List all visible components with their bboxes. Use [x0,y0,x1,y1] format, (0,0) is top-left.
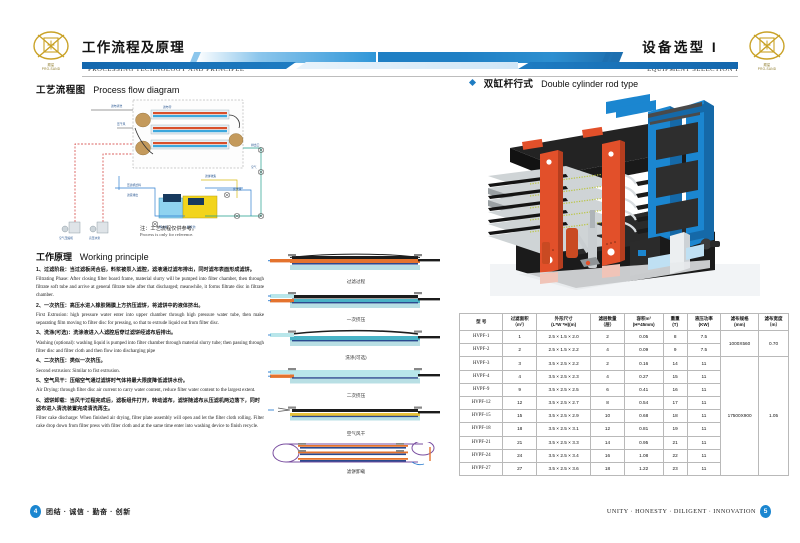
working-principle-heading-cn: 工作原理 [36,252,72,262]
cell-weight: 18 [663,410,687,423]
step-label: 空气风干 [268,431,444,437]
logo-mark-icon [746,29,788,62]
step-illustration: 过滤过程 [268,252,444,290]
page-number-right: 5 [760,505,771,518]
cell-weight: 15 [663,370,687,383]
product-heading-cn: 双缸杆行式 [484,79,534,90]
cell-area: 27 [503,462,537,475]
cell-layers: 14 [591,436,625,449]
process-flow-note: 注：工艺流程仅供参考。 Process is only for referenc… [140,225,270,237]
step-illustration-column: 过滤过程 一次挤压 [268,252,444,480]
cell-dim: 3.5 × 2.5 × 2.5 [536,383,590,396]
principle-step-en: Second extrusion: Similar to fist extrus… [36,368,264,376]
cell-dim: 3.5 × 2.5 × 3.6 [536,462,590,475]
principle-step-en: First Extrusion: high pressure water ent… [36,312,264,328]
cell-weight: 16 [663,383,687,396]
cell-vol: 0.81 [624,423,663,436]
cell-weight: 21 [663,436,687,449]
cell-area: 9 [503,383,537,396]
svg-text:滤布带: 滤布带 [163,105,172,109]
cell-power: 11 [687,462,721,475]
cell-dim: 3.5 × 2.5 × 3.3 [536,436,590,449]
brochure-page: 顺星PRO-SAND 顺星PRO-SAND 工作流程及原理 PROCESSING… [0,0,800,543]
col-cloth-width-unit: （m） [767,322,780,327]
step-label: 滤饼卸载 [268,469,444,475]
page-header: 顺星PRO-SAND 顺星PRO-SAND 工作流程及原理 PROCESSING… [0,0,800,78]
header-underbar-left [82,62,296,69]
cell-vol: 0.54 [624,396,663,409]
logo-mark-icon [30,29,72,62]
col-layers: 滤层数量 （层） [591,314,625,331]
logo-caption: 顺星PRO-SAND [30,63,72,71]
process-flow-note-cn: 注：工艺流程仅供参考。 [140,225,270,232]
col-cloth-width-cn: 滤布宽度 [765,316,783,321]
cell-layers: 4 [591,344,625,357]
cell-model: HVPF-1 [460,331,503,344]
header-underbar-mid [296,62,518,69]
header-title-left-cn: 工作流程及原理 [82,36,185,56]
working-principle-heading-en: Working principle [80,252,149,262]
cell-dim: 3.5 × 2.5 × 3.4 [536,449,590,462]
cell-area: 3 [503,357,537,370]
cell-layers: 4 [591,370,625,383]
spec-table-header-row: 型 号 过滤面积 （m²） 外形尺寸 (L*W *H)(m) 滤层数量 （层） [460,314,789,331]
cell-power: 11 [687,396,721,409]
col-weight: 重重 (T) [663,314,687,331]
cell-area: 12 [503,396,537,409]
principle-step-cn: 5、空气风干：压缩空气通过滤饼时气体将最大限度降低滤饼水份。 [36,378,264,386]
company-logo-right: 顺星PRO-SAND [746,29,788,71]
cell-power: 7.5 [687,344,721,357]
step-illustration: 滤饼卸载 [268,442,444,480]
footer-slogan-en: UNITY · HONESTY · DILIGENT · INNOVATION [607,508,756,515]
cell-layers: 2 [591,331,625,344]
svg-text:滤布清洗: 滤布清洗 [111,104,122,108]
cell-power: 11 [687,383,721,396]
cell-vol: 1.08 [624,449,663,462]
principle-step-en: Filtrating Phase: After closing filter b… [36,276,264,300]
cell-model: HVPF-18 [460,423,503,436]
cell-weight: 17 [663,396,687,409]
header-bar-gradient-left [196,52,376,63]
cell-vol: 0.27 [624,370,663,383]
principle-step-cn: 3、洗涤(可选)：洗涤液进入人滤腔后穿过滤饼经滤布后排出。 [36,330,264,338]
cell-vol: 0.68 [624,410,663,423]
col-cloth-spec-cn: 滤布规格 [731,316,749,321]
svg-text:压干风: 压干风 [117,122,126,126]
diamond-bullet-icon [469,79,476,86]
page-footer: 4 团结 · 诚信 · 勤奋 · 创新 UNITY · HONESTY · DI… [0,505,800,527]
product-photo [470,92,788,300]
header-underbar-right [518,62,738,69]
table-row: HVPF-1 1 2.5 × 1.5 × 2.0 2 0.05 8 7.5 10… [460,331,789,344]
col-filter-area-unit: （m²） [512,322,527,327]
col-volume: 容积m³ (H=45mm) [624,314,663,331]
cell-cloth-spec: 1000X560 [721,331,759,357]
cell-layers: 16 [591,449,625,462]
svg-text:压滤机给料: 压滤机给料 [127,183,141,187]
step-illustration: 一次挤压 [268,290,444,328]
cell-cloth-spec: 17500X900 [721,357,759,476]
col-model: 型 号 [460,314,503,331]
cell-area: 4 [503,370,537,383]
cell-dim: 3.5 × 2.5 × 3.1 [536,423,590,436]
page-number-left: 4 [30,505,41,518]
cell-cloth-width: 1.05 [759,357,789,476]
cell-model: HVPF-9 [460,383,503,396]
col-model-cn: 型 号 [476,319,486,324]
logo-caption: 顺星PRO-SAND [746,63,788,71]
cell-dim: 3.5 × 2.5 × 2.3 [536,370,590,383]
cell-model: HVPF-21 [460,436,503,449]
svg-text:滤饼收集: 滤饼收集 [205,174,216,178]
spec-table-head: 型 号 过滤面积 （m²） 外形尺寸 (L*W *H)(m) 滤层数量 （层） [460,314,789,331]
col-cloth-spec: 滤布规格 (mm) [721,314,759,331]
process-flow-heading-cn: 工艺流程图 [36,85,86,96]
cell-vol: 0.05 [624,331,663,344]
step-label: 一次挤压 [268,317,444,323]
cell-model: HVPF-3 [460,357,503,370]
cell-area: 24 [503,449,537,462]
cell-layers: 12 [591,423,625,436]
product-heading: 双缸杆行式 Double cylinder rod type [470,76,638,90]
cell-power: 11 [687,370,721,383]
principle-step-en: Air Drying: through filter disc air curr… [36,387,264,395]
cell-model: HVPF-12 [460,396,503,409]
product-heading-en: Double cylinder rod type [541,79,638,89]
principle-step-cn: 4、二次挤压：类似一次挤压。 [36,358,264,366]
principle-step-cn: 1、过滤阶段：当过滤板闭合后，料浆被泵入滤腔，滤液通过滤布排出，同时滤布表面形成… [36,267,264,275]
cell-weight: 23 [663,462,687,475]
cell-model: HVPF-24 [460,449,503,462]
cell-layers: 8 [591,396,625,409]
cell-dim: 2.5 × 1.5 × 2.2 [536,344,590,357]
col-weight-unit: (T) [672,322,678,327]
cell-area: 18 [503,423,537,436]
col-power: 液压功率 (KW) [687,314,721,331]
process-flow-heading: 工艺流程图 Process flow diagram [36,82,179,96]
cell-vol: 0.16 [624,357,663,370]
working-principle-section: 工作原理 Working principle 1、过滤阶段：当过滤板闭合后，料浆… [36,250,264,431]
step-label: 洗涤(可选) [268,355,444,361]
col-layers-cn: 滤层数量 [599,316,617,321]
col-dimensions-cn: 外形尺寸 [555,316,573,321]
cell-weight: 8 [663,331,687,344]
table-row: HVPF-3 3 3.5 × 2.5 × 2.2 2 0.16 14 11 17… [460,357,789,370]
cell-area: 1 [503,331,537,344]
cell-area: 15 [503,410,537,423]
cell-power: 7.5 [687,331,721,344]
cell-dim: 3.5 × 2.5 × 2.9 [536,410,590,423]
cell-power: 11 [687,436,721,449]
svg-text:高压水泵: 高压水泵 [89,236,100,240]
cell-area: 21 [503,436,537,449]
svg-text:空气: 空气 [251,165,257,169]
cell-dim: 3.5 × 2.5 × 2.7 [536,396,590,409]
col-cloth-spec-unit: (mm) [734,322,745,327]
header-divider [82,76,738,77]
cell-vol: 0.95 [624,436,663,449]
cell-power: 11 [687,357,721,370]
step-illustration: 空气风干 [268,404,444,442]
col-weight-cn: 重重 [671,316,680,321]
col-dimensions-unit: (L*W *H)(m) [551,322,576,327]
spec-table-wrapper: 型 号 过滤面积 （m²） 外形尺寸 (L*W *H)(m) 滤层数量 （层） [459,313,789,476]
principle-step-cn: 6、滤饼卸载：当风干过程完成后，滤板组件打开，转动滤布，滤饼随滤布从压滤机两边落… [36,398,264,414]
cell-layers: 10 [591,410,625,423]
header-bar-gradient-right [458,52,616,63]
process-flow-diagram: 滤布清洗 压干风 滤布带 压滤机给料 滤液排出 滤饼收集 反洗液 排出口 空气 … [55,98,270,243]
principle-step-cn: 2、一次挤压：高压水进入橡胶隔膜上方挤压滤饼，将滤饼中的液体挤出。 [36,303,264,311]
col-power-cn: 液压功率 [695,316,713,321]
svg-text:滤液排出: 滤液排出 [127,193,138,197]
cell-weight: 9 [663,344,687,357]
col-volume-cn: 容积m³ [636,316,651,321]
cell-weight: 19 [663,423,687,436]
cell-dim: 2.5 × 1.5 × 2.0 [536,331,590,344]
step-illustration: 二次挤压 [268,366,444,404]
cell-dim: 3.5 × 2.5 × 2.2 [536,357,590,370]
cell-vol: 1.22 [624,462,663,475]
svg-text:反洗液: 反洗液 [233,187,242,191]
cell-cloth-width: 0.70 [759,331,789,357]
process-flow-note-en: Process is only for reference. [140,232,270,237]
col-filter-area: 过滤面积 （m²） [503,314,537,331]
cell-layers: 18 [591,462,625,475]
footer-slogan-cn: 团结 · 诚信 · 勤奋 · 创新 [46,507,131,517]
header-title-right-cn: 设备选型 I [642,36,718,56]
cell-weight: 22 [663,449,687,462]
header-bar-solid-mid [378,52,458,63]
cell-model: HVPF-2 [460,344,503,357]
cell-vol: 0.41 [624,383,663,396]
cell-layers: 2 [591,357,625,370]
cell-layers: 6 [591,383,625,396]
cell-power: 11 [687,410,721,423]
cell-model: HVPF-4 [460,370,503,383]
process-flow-heading-en: Process flow diagram [93,85,179,95]
company-logo-left: 顺星PRO-SAND [30,29,72,71]
cell-model: HVPF-27 [460,462,503,475]
step-label: 过滤过程 [268,279,444,285]
col-power-unit: (KW) [699,322,710,327]
col-dimensions: 外形尺寸 (L*W *H)(m) [536,314,590,331]
cell-area: 2 [503,344,537,357]
col-layers-unit: （层） [601,322,615,327]
svg-text:空气压缩机: 空气压缩机 [59,236,73,240]
step-label: 二次挤压 [268,393,444,399]
cell-power: 11 [687,423,721,436]
cell-weight: 14 [663,357,687,370]
cell-model: HVPF-15 [460,410,503,423]
spec-table: 型 号 过滤面积 （m²） 外形尺寸 (L*W *H)(m) 滤层数量 （层） [459,313,789,476]
col-volume-unit: (H=45mm) [633,322,655,327]
principle-step-en: Washing (optional): washing liquid is pu… [36,340,264,356]
cell-power: 11 [687,449,721,462]
col-cloth-width: 滤布宽度 （m） [759,314,789,331]
working-principle-heading: 工作原理 Working principle [36,250,264,263]
col-filter-area-cn: 过滤面积 [511,316,529,321]
principle-step-en: Filter cake discharge: When finished air… [36,415,264,431]
cell-vol: 0.09 [624,344,663,357]
spec-table-body: HVPF-1 1 2.5 × 1.5 × 2.0 2 0.05 8 7.5 10… [460,331,789,476]
step-illustration: 洗涤(可选) [268,328,444,366]
svg-text:排出口: 排出口 [251,143,260,147]
